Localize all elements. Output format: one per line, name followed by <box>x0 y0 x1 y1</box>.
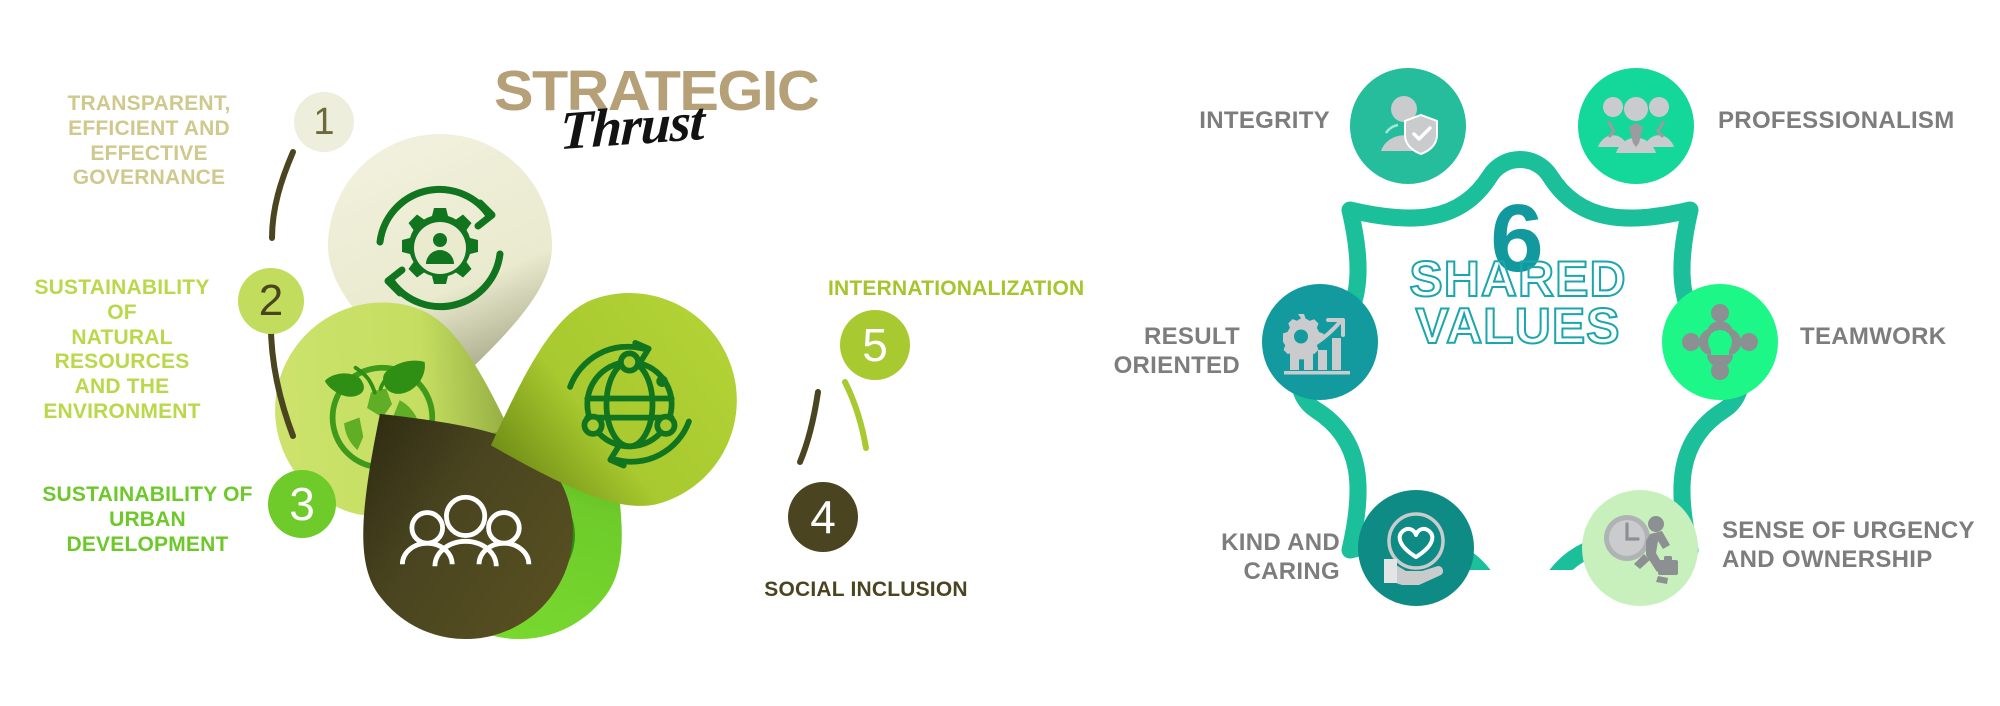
badge-label-2: 2 <box>259 276 283 326</box>
value-circle-professionalism[interactable] <box>1578 68 1694 184</box>
label-item-2: SUSTAINABILITY OF NATURAL RESOURCES AND … <box>18 276 226 425</box>
value-circle-result-oriented[interactable] <box>1262 284 1378 400</box>
page-title-thrust: Thrust <box>559 90 705 162</box>
label-item-5: INTERNATIONALIZATION <box>828 277 1078 302</box>
value-circle-integrity[interactable] <box>1350 68 1466 184</box>
value-label-kind-and-caring: KIND AND CARING <box>1130 528 1340 587</box>
infographic-canvas: 1 2 3 4 5 TRANSPARENT, EFFICIENT AND EFF… <box>0 0 2000 706</box>
badge-number-1[interactable]: 1 <box>294 92 354 152</box>
label-item-3: SUSTAINABILITY OF URBAN DEVELOPMENT <box>40 483 255 557</box>
people-network-icon <box>1681 303 1759 381</box>
badge-label-5: 5 <box>862 318 888 372</box>
value-label-result-oriented: RESULT ORIENTED <box>1040 322 1240 381</box>
value-label-sense-of-urgency: SENSE OF URGENCY AND OWNERSHIP <box>1722 516 1992 575</box>
badge-number-3[interactable]: 3 <box>268 470 336 538</box>
bar-chart-gear-arrow-icon <box>1282 306 1358 378</box>
label-item-1: TRANSPARENT, EFFICIENT AND EFFECTIVE GOV… <box>18 92 280 191</box>
clock-running-person-icon <box>1600 510 1680 586</box>
value-circle-sense-of-urgency[interactable] <box>1582 490 1698 606</box>
value-circle-kind-and-caring[interactable] <box>1358 490 1474 606</box>
badge-number-5[interactable]: 5 <box>840 310 910 380</box>
badge-label-1: 1 <box>313 101 334 144</box>
center-line-values: VALUES <box>1400 303 1636 350</box>
value-label-integrity: INTEGRITY <box>1160 106 1330 135</box>
center-line-shared: SHARED <box>1400 256 1636 303</box>
badge-label-4: 4 <box>810 490 836 544</box>
hand-heart-icon <box>1378 511 1454 585</box>
center-shared-values: SHARED VALUES <box>1400 256 1636 350</box>
label-item-4: SOCIAL INCLUSION <box>746 578 986 603</box>
badge-number-2[interactable]: 2 <box>238 268 304 334</box>
business-team-icon <box>1596 91 1676 161</box>
value-label-professionalism: PROFESSIONALISM <box>1718 106 1978 135</box>
value-label-teamwork: TEAMWORK <box>1800 322 2000 351</box>
value-circle-teamwork[interactable] <box>1662 284 1778 400</box>
person-shield-check-icon <box>1371 89 1445 163</box>
badge-number-4[interactable]: 4 <box>788 482 858 552</box>
badge-label-3: 3 <box>289 477 315 531</box>
